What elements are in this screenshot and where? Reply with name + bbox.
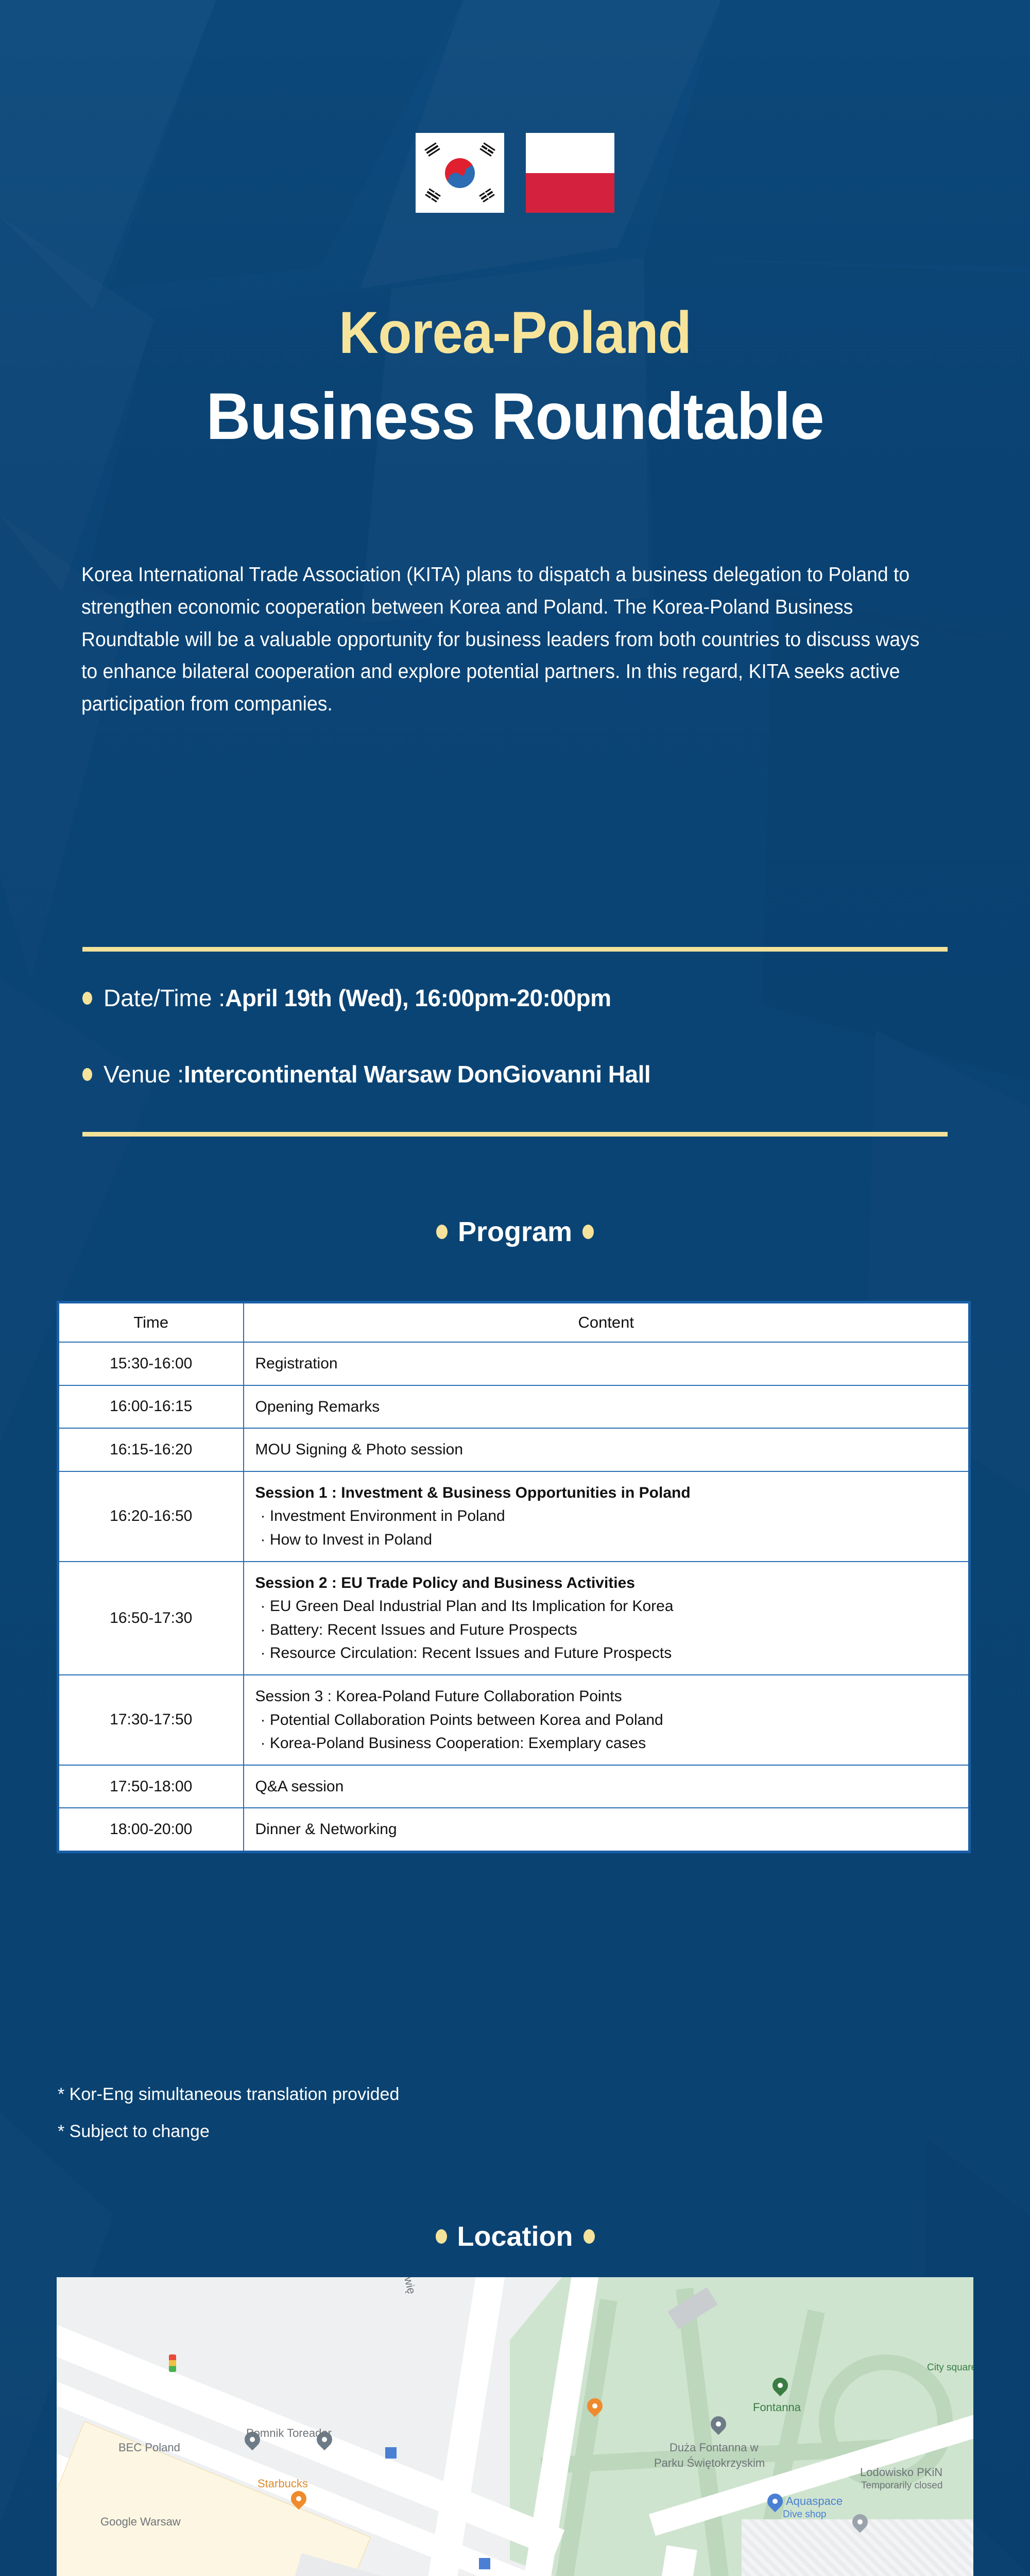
- map-bike-icon: [385, 2447, 397, 2459]
- table-header-row: Time Content: [58, 1302, 970, 1343]
- trigram-geon-icon: [424, 142, 441, 157]
- korea-flag-icon: [416, 133, 504, 213]
- map-label-pomnik-toreador: Pomnik Toreador: [246, 2427, 332, 2440]
- program-heading-text: Program: [458, 1216, 572, 1247]
- program-note-subject-to-change: * Subject to change: [58, 2122, 210, 2142]
- venue-row: Venue : Intercontinental Warsaw DonGiova…: [82, 1060, 958, 1088]
- map-traffic-light-icon: [169, 2354, 176, 2372]
- cell-content-title: Session 3 : Korea-Poland Future Collabor…: [255, 1685, 957, 1708]
- cell-content-title: MOU Signing & Photo session: [255, 1438, 957, 1462]
- cell-content-subitem: · Battery: Recent Issues and Future Pros…: [255, 1618, 957, 1642]
- map-transit-icon: [479, 2558, 490, 2569]
- cell-content: Session 1 : Investment & Business Opport…: [244, 1471, 970, 1562]
- table-row: 18:00-20:00Dinner & Networking: [58, 1808, 970, 1852]
- trigram-gam-icon: [479, 142, 495, 157]
- cell-time: 17:30-17:50: [58, 1675, 244, 1765]
- cell-content: Session 3 : Korea-Poland Future Collabor…: [244, 1675, 970, 1765]
- cell-time: 16:00-16:15: [58, 1385, 244, 1429]
- divider-bottom: [82, 1132, 948, 1137]
- datetime-label: Date/Time :: [104, 984, 225, 1012]
- map-pin-starbucks: [291, 2491, 306, 2513]
- cell-content: Q&A session: [244, 1765, 970, 1808]
- location-section-heading: Location: [0, 2221, 1030, 2252]
- page-title-line2: Business Roundtable: [36, 379, 994, 454]
- cell-content-subitem: · How to Invest in Poland: [255, 1528, 957, 1552]
- bullet-dot-icon: [436, 1225, 448, 1239]
- map-label-lodowisko-sub: Temporarily closed: [861, 2480, 942, 2492]
- cell-content: Registration: [244, 1342, 970, 1385]
- program-note-translation: * Kor-Eng simultaneous translation provi…: [58, 2084, 399, 2105]
- location-heading-text: Location: [457, 2221, 573, 2252]
- map-pin-lodowisko: [852, 2514, 868, 2536]
- venue-label: Venue :: [104, 1060, 184, 1088]
- map-label-fontanna: Fontanna: [753, 2401, 801, 2414]
- cell-time: 15:30-16:00: [58, 1342, 244, 1385]
- trigram-ri-icon: [424, 188, 441, 203]
- cell-time: 16:15-16:20: [58, 1428, 244, 1471]
- poster-background: Korea-Poland Business Roundtable Korea I…: [0, 0, 1030, 2576]
- map-label-aquaspace: Aquaspace: [786, 2495, 843, 2508]
- cell-content: Opening Remarks: [244, 1385, 970, 1429]
- map-label-city-square: City square: [927, 2362, 973, 2374]
- table-row: 16:50-17:30Session 2 : EU Trade Policy a…: [58, 1562, 970, 1675]
- map-street-swietokrzyska: Świę: [399, 2277, 418, 2295]
- table-row: 17:50-18:00Q&A session: [58, 1765, 970, 1808]
- cell-time: 16:20-16:50: [58, 1471, 244, 1562]
- cell-time: 17:50-18:00: [58, 1765, 244, 1808]
- cell-content: MOU Signing & Photo session: [244, 1428, 970, 1471]
- map-pin-restaurant: [587, 2398, 603, 2420]
- bullet-dot-icon: [82, 992, 92, 1005]
- bullet-dot-icon: [436, 2229, 447, 2244]
- cell-content-title: Session 2 : EU Trade Policy and Business…: [255, 1571, 957, 1595]
- bullet-dot-icon: [583, 2229, 595, 2244]
- map-label-duza-fontanna-2: Parku Świętokrzyskim: [654, 2456, 765, 2470]
- venue-value: Intercontinental Warsaw DonGiovanni Hall: [184, 1060, 650, 1088]
- cell-content-title: Session 1 : Investment & Business Opport…: [255, 1481, 957, 1505]
- column-header-content: Content: [244, 1302, 970, 1343]
- datetime-value: April 19th (Wed), 16:00pm-20:00pm: [225, 984, 611, 1012]
- cell-content-title: Opening Remarks: [255, 1395, 957, 1419]
- map-label-starbucks: Starbucks: [257, 2477, 308, 2490]
- page-title-line1: Korea-Poland: [36, 299, 994, 367]
- program-table: Time Content 15:30-16:00Registration16:0…: [57, 1301, 971, 1853]
- table-row: 15:30-16:00Registration: [58, 1342, 970, 1385]
- table-row: 16:15-16:20MOU Signing & Photo session: [58, 1428, 970, 1471]
- taeguk-symbol: [439, 152, 480, 193]
- trigram-gon-icon: [479, 188, 495, 203]
- cell-content-title: Q&A session: [255, 1775, 957, 1799]
- table-row: 16:20-16:50Session 1 : Investment & Busi…: [58, 1471, 970, 1562]
- cell-content-subitem: · Potential Collaboration Points between…: [255, 1708, 957, 1732]
- cell-time: 18:00-20:00: [58, 1808, 244, 1852]
- cell-content-subitem: · Investment Environment in Poland: [255, 1504, 957, 1528]
- cell-content: Dinner & Networking: [244, 1808, 970, 1852]
- bullet-dot-icon: [582, 1225, 594, 1239]
- map-pin-duza-fontanna: [711, 2416, 726, 2438]
- map-label-aquaspace-sub: Dive shop: [783, 2509, 827, 2520]
- cell-content-title: Registration: [255, 1352, 957, 1376]
- cell-content-subitem: · Resource Circulation: Recent Issues an…: [255, 1641, 957, 1665]
- cell-content-subitem: · Korea-Poland Business Cooperation: Exe…: [255, 1732, 957, 1755]
- map-label-bec-poland: BEC Poland: [118, 2441, 180, 2454]
- table-row: 16:00-16:15Opening Remarks: [58, 1385, 970, 1429]
- cell-content: Session 2 : EU Trade Policy and Business…: [244, 1562, 970, 1675]
- program-section-heading: Program: [0, 1216, 1030, 1248]
- column-header-time: Time: [58, 1302, 244, 1343]
- cell-content-subitem: · EU Green Deal Industrial Plan and Its …: [255, 1595, 957, 1618]
- flags-row: [0, 133, 1030, 236]
- map-pin-aquaspace: [767, 2494, 783, 2515]
- datetime-row: Date/Time : April 19th (Wed), 16:00pm-20…: [82, 984, 958, 1012]
- map-label-duza-fontanna: Duża Fontanna w: [669, 2441, 758, 2454]
- divider-top: [82, 947, 948, 952]
- map-label-google-warsaw: Google Warsaw: [100, 2515, 181, 2529]
- location-map[interactable]: BEC Poland Pomnik Toreador Starbucks Goo…: [57, 2277, 973, 2576]
- table-row: 17:30-17:50Session 3 : Korea-Poland Futu…: [58, 1675, 970, 1765]
- poland-flag-icon: [526, 133, 614, 213]
- description-paragraph: Korea International Trade Association (K…: [81, 559, 925, 721]
- cell-time: 16:50-17:30: [58, 1562, 244, 1675]
- map-pin-fontanna: [772, 2378, 788, 2399]
- bullet-dot-icon: [82, 1068, 92, 1081]
- cell-content-title: Dinner & Networking: [255, 1818, 957, 1841]
- map-label-lodowisko: Lodowisko PKiN: [860, 2466, 942, 2479]
